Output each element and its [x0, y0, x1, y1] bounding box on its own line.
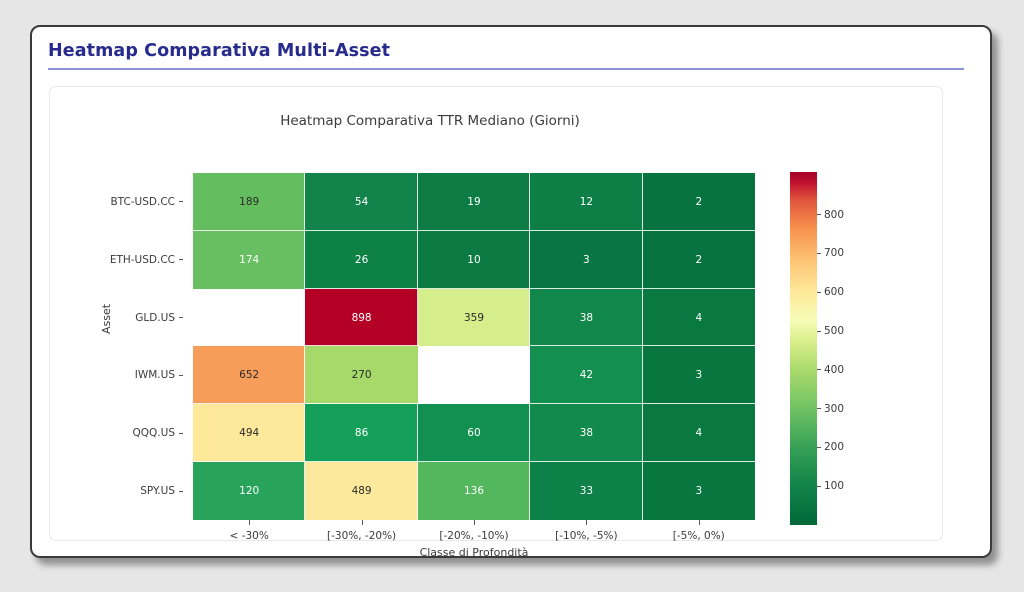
heatmap-cell: 86 — [305, 404, 417, 462]
colorbar-tick: 500 — [817, 325, 844, 337]
y-axis-tick-text: IWM.US — [135, 369, 175, 381]
heatmap-cell: 33 — [530, 462, 642, 520]
colorbar-tickmark — [817, 331, 821, 332]
heatmap-cell-value: 12 — [580, 196, 593, 208]
x-axis-tickmark — [249, 520, 250, 525]
y-axis-tickmark — [179, 433, 183, 434]
title-divider — [48, 68, 964, 70]
heatmap-cell-value: 359 — [464, 312, 484, 324]
heatmap-cell-value: 270 — [352, 369, 372, 381]
colorbar-tickmark — [817, 253, 821, 254]
colorbar-ticks: 100200300400500600700800 — [817, 172, 877, 525]
colorbar-tick: 600 — [817, 286, 844, 298]
y-axis-tick-text: QQQ.US — [133, 427, 175, 439]
heatmap-cell-value: 26 — [355, 254, 368, 266]
y-axis-tickmark — [179, 201, 183, 202]
y-axis-tickmark — [179, 317, 183, 318]
heatmap-cell: 42 — [530, 346, 642, 404]
heatmap-cell: 136 — [418, 462, 530, 520]
x-axis-tick-text: [-5%, 0%) — [673, 530, 725, 542]
heatmap-cell: 4 — [643, 404, 755, 462]
heatmap-cell-value: 136 — [464, 485, 484, 497]
heatmap-cell-value: 4 — [695, 427, 702, 439]
heatmap-cell-value: 494 — [239, 427, 259, 439]
y-axis-tick-text: SPY.US — [140, 485, 175, 497]
x-axis-tick-text: [-30%, -20%) — [327, 530, 396, 542]
heatmap-cell: 2 — [643, 231, 755, 289]
heatmap-cell-value: 120 — [239, 485, 259, 497]
heatmap-cell: 489 — [305, 462, 417, 520]
heatmap-cell-value: 2 — [695, 254, 702, 266]
heatmap-cell: 120 — [193, 462, 305, 520]
heatmap-cell: 174 — [193, 231, 305, 289]
heatmap-cell: 4 — [643, 289, 755, 347]
colorbar-tick: 400 — [817, 364, 844, 376]
heatmap-cell-value: 898 — [352, 312, 372, 324]
x-axis-tick-label: < -30% — [193, 520, 305, 542]
heatmap-cell-value: 652 — [239, 369, 259, 381]
chart-title: Heatmap Comparativa TTR Mediano (Giorni) — [50, 113, 810, 129]
colorbar-tickmark — [817, 408, 821, 409]
colorbar-tick-text: 800 — [824, 209, 844, 221]
colorbar-tickmark — [817, 369, 821, 370]
colorbar-tick: 800 — [817, 209, 844, 221]
y-axis-tickmark — [179, 259, 183, 260]
y-axis-tick-text: ETH-USD.CC — [110, 254, 175, 266]
y-axis-tick-label: GLD.US — [50, 289, 186, 347]
y-axis-tick-label: ETH-USD.CC — [50, 231, 186, 289]
x-axis-title: Classe di Profondità — [193, 546, 755, 559]
x-axis-tick-label: [-30%, -20%) — [305, 520, 417, 542]
heatmap-cell: 270 — [305, 346, 417, 404]
heatmap-cell: 189 — [193, 173, 305, 231]
colorbar-tick: 100 — [817, 480, 844, 492]
x-axis-tickmark — [586, 520, 587, 525]
heatmap-cell: 359 — [418, 289, 530, 347]
heatmap-cell: 3 — [643, 462, 755, 520]
x-axis-tickmark — [362, 520, 363, 525]
heatmap-cell-value: 38 — [580, 427, 593, 439]
y-axis-tick-text: GLD.US — [135, 312, 175, 324]
x-axis-tick-text: < -30% — [230, 530, 269, 542]
colorbar-tickmark — [817, 292, 821, 293]
heatmap-cell-value: 54 — [355, 196, 368, 208]
heatmap-cell: 494 — [193, 404, 305, 462]
colorbar-tickmark — [817, 447, 821, 448]
heatmap-cell: 3 — [530, 231, 642, 289]
heatmap-cell-value: 4 — [695, 312, 702, 324]
y-axis-tick-label: BTC-USD.CC — [50, 173, 186, 231]
heatmap-cell-value: 3 — [583, 254, 590, 266]
heatmap-cell: 10 — [418, 231, 530, 289]
heatmap-cell: 38 — [530, 404, 642, 462]
heatmap-cell — [193, 289, 305, 347]
y-axis-ticks: BTC-USD.CCETH-USD.CCGLD.USIWM.USQQQ.USSP… — [50, 173, 186, 520]
y-axis-tick-text: BTC-USD.CC — [110, 196, 175, 208]
colorbar-tickmark — [817, 486, 821, 487]
x-axis-tick-label: [-10%, -5%) — [530, 520, 642, 542]
heatmap-cell-value: 189 — [239, 196, 259, 208]
heatmap-cell-value: 19 — [467, 196, 480, 208]
heatmap-cell-value: 60 — [467, 427, 480, 439]
heatmap-cell — [418, 346, 530, 404]
colorbar-tick-text: 200 — [824, 441, 844, 453]
colorbar-tick-text: 300 — [824, 403, 844, 415]
heatmap-cell-value: 10 — [467, 254, 480, 266]
heatmap-cell: 12 — [530, 173, 642, 231]
heatmap-cell: 19 — [418, 173, 530, 231]
colorbar-tick-text: 500 — [824, 325, 844, 337]
y-axis-tick-label: IWM.US — [50, 346, 186, 404]
heatmap-cell: 2 — [643, 173, 755, 231]
y-axis-tickmark — [179, 375, 183, 376]
colorbar-gradient — [790, 172, 817, 525]
colorbar-tickmark — [817, 214, 821, 215]
x-axis-ticks: < -30%[-30%, -20%)[-20%, -10%)[-10%, -5%… — [193, 520, 755, 542]
page-title: Heatmap Comparativa Multi-Asset — [48, 41, 390, 61]
colorbar-tick-text: 400 — [824, 364, 844, 376]
x-axis-tick-label: [-5%, 0%) — [643, 520, 755, 542]
heatmap-cell-value: 2 — [695, 196, 702, 208]
colorbar-tick-text: 700 — [824, 247, 844, 259]
colorbar-tick: 700 — [817, 247, 844, 259]
x-axis-tick-text: [-20%, -10%) — [439, 530, 508, 542]
chart-panel: Heatmap Comparativa TTR Mediano (Giorni)… — [49, 86, 943, 541]
x-axis-tick-label: [-20%, -10%) — [418, 520, 530, 542]
heatmap-grid: 1895419122174261032898359384652270423494… — [193, 173, 755, 520]
colorbar-tick-text: 100 — [824, 480, 844, 492]
page-root: Heatmap Comparativa Multi-Asset Heatmap … — [0, 0, 1024, 592]
heatmap-cell: 60 — [418, 404, 530, 462]
heatmap-cell-value: 42 — [580, 369, 593, 381]
heatmap-cell-value: 38 — [580, 312, 593, 324]
heatmap-figure: Heatmap Comparativa TTR Mediano (Giorni)… — [50, 87, 944, 542]
heatmap-cell: 652 — [193, 346, 305, 404]
heatmap-cell-value: 86 — [355, 427, 368, 439]
y-axis-tickmark — [179, 491, 183, 492]
heatmap-cell: 26 — [305, 231, 417, 289]
heatmap-cell: 898 — [305, 289, 417, 347]
report-card: Heatmap Comparativa Multi-Asset Heatmap … — [30, 25, 992, 558]
heatmap-cell: 38 — [530, 289, 642, 347]
heatmap-cell-value: 3 — [695, 369, 702, 381]
x-axis-tick-text: [-10%, -5%) — [555, 530, 617, 542]
heatmap-cell: 54 — [305, 173, 417, 231]
heatmap-cell-value: 3 — [695, 485, 702, 497]
colorbar-tick: 200 — [817, 441, 844, 453]
x-axis-tickmark — [474, 520, 475, 525]
y-axis-tick-label: QQQ.US — [50, 404, 186, 462]
heatmap-cell-value: 489 — [352, 485, 372, 497]
heatmap-cell-value: 174 — [239, 254, 259, 266]
heatmap-cell-value: 33 — [580, 485, 593, 497]
x-axis-tickmark — [699, 520, 700, 525]
heatmap-cell: 3 — [643, 346, 755, 404]
colorbar-tick: 300 — [817, 403, 844, 415]
y-axis-tick-label: SPY.US — [50, 462, 186, 520]
colorbar-tick-text: 600 — [824, 286, 844, 298]
